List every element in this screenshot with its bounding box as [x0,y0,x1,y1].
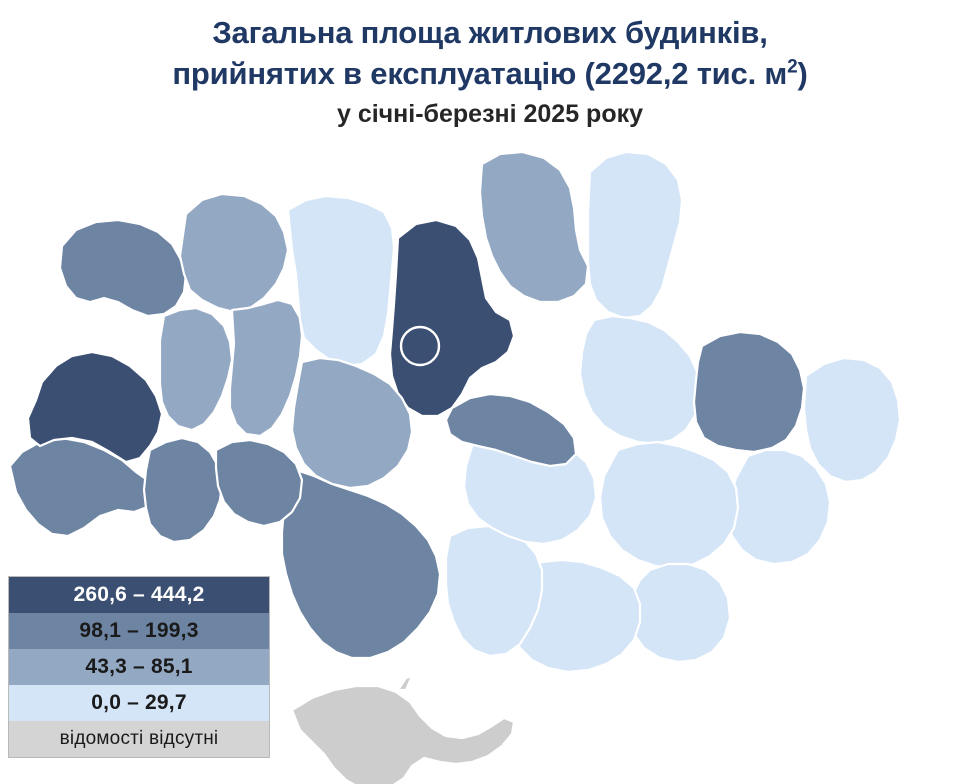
region-zhytomyr[interactable] [288,196,394,366]
legend-row-1[interactable]: 260,6 – 444,2 [9,577,269,613]
region-volyn[interactable] [60,220,186,316]
title-line-2-text: прийнятих в експлуатацію (2292,2 тис. м [172,56,787,91]
region-dnipro[interactable] [600,442,738,568]
legend-row-5[interactable]: відомості відсутні [9,721,269,757]
legend: 260,6 – 444,2 98,1 – 199,3 43,3 – 85,1 0… [8,576,270,758]
legend-label-4: 0,0 – 29,7 [91,691,186,715]
region-cherkasy[interactable] [446,394,576,466]
legend-row-3[interactable]: 43,3 – 85,1 [9,649,269,685]
region-ivano-frankivsk[interactable] [144,438,222,542]
region-ternopil[interactable] [160,308,232,430]
region-crimea[interactable] [292,686,514,784]
legend-label-3: 43,3 – 85,1 [85,655,192,679]
legend-row-4[interactable]: 0,0 – 29,7 [9,685,269,721]
legend-label-1: 260,6 – 444,2 [73,583,204,607]
page-subtitle: у січні-березні 2025 року [0,96,980,132]
region-luhansk[interactable] [804,358,900,482]
region-rivne[interactable] [180,194,288,312]
region-chernihiv[interactable] [480,152,588,302]
title-line-2-close: ) [798,56,808,91]
region-crimea-isthmus [398,676,412,690]
page-title: Загальна площа житлових будинків, прийня… [0,0,980,132]
region-zaporizhzhia[interactable] [630,564,730,662]
region-sumy[interactable] [588,152,682,318]
region-odesa[interactable] [282,470,440,658]
region-kharkiv[interactable] [694,332,804,452]
title-line-1: Загальна площа житлових будинків, [0,12,980,53]
legend-row-2[interactable]: 98,1 – 199,3 [9,613,269,649]
legend-label-5: відомості відсутні [60,728,219,750]
title-line-2: прийнятих в експлуатацію (2292,2 тис. м2… [0,53,980,94]
region-donetsk[interactable] [728,450,830,564]
region-chernivtsi[interactable] [216,440,302,526]
region-khmelnytskyi[interactable] [230,300,302,436]
title-superscript: 2 [787,57,797,78]
legend-label-2: 98,1 – 199,3 [79,619,198,643]
region-poltava[interactable] [580,316,700,444]
